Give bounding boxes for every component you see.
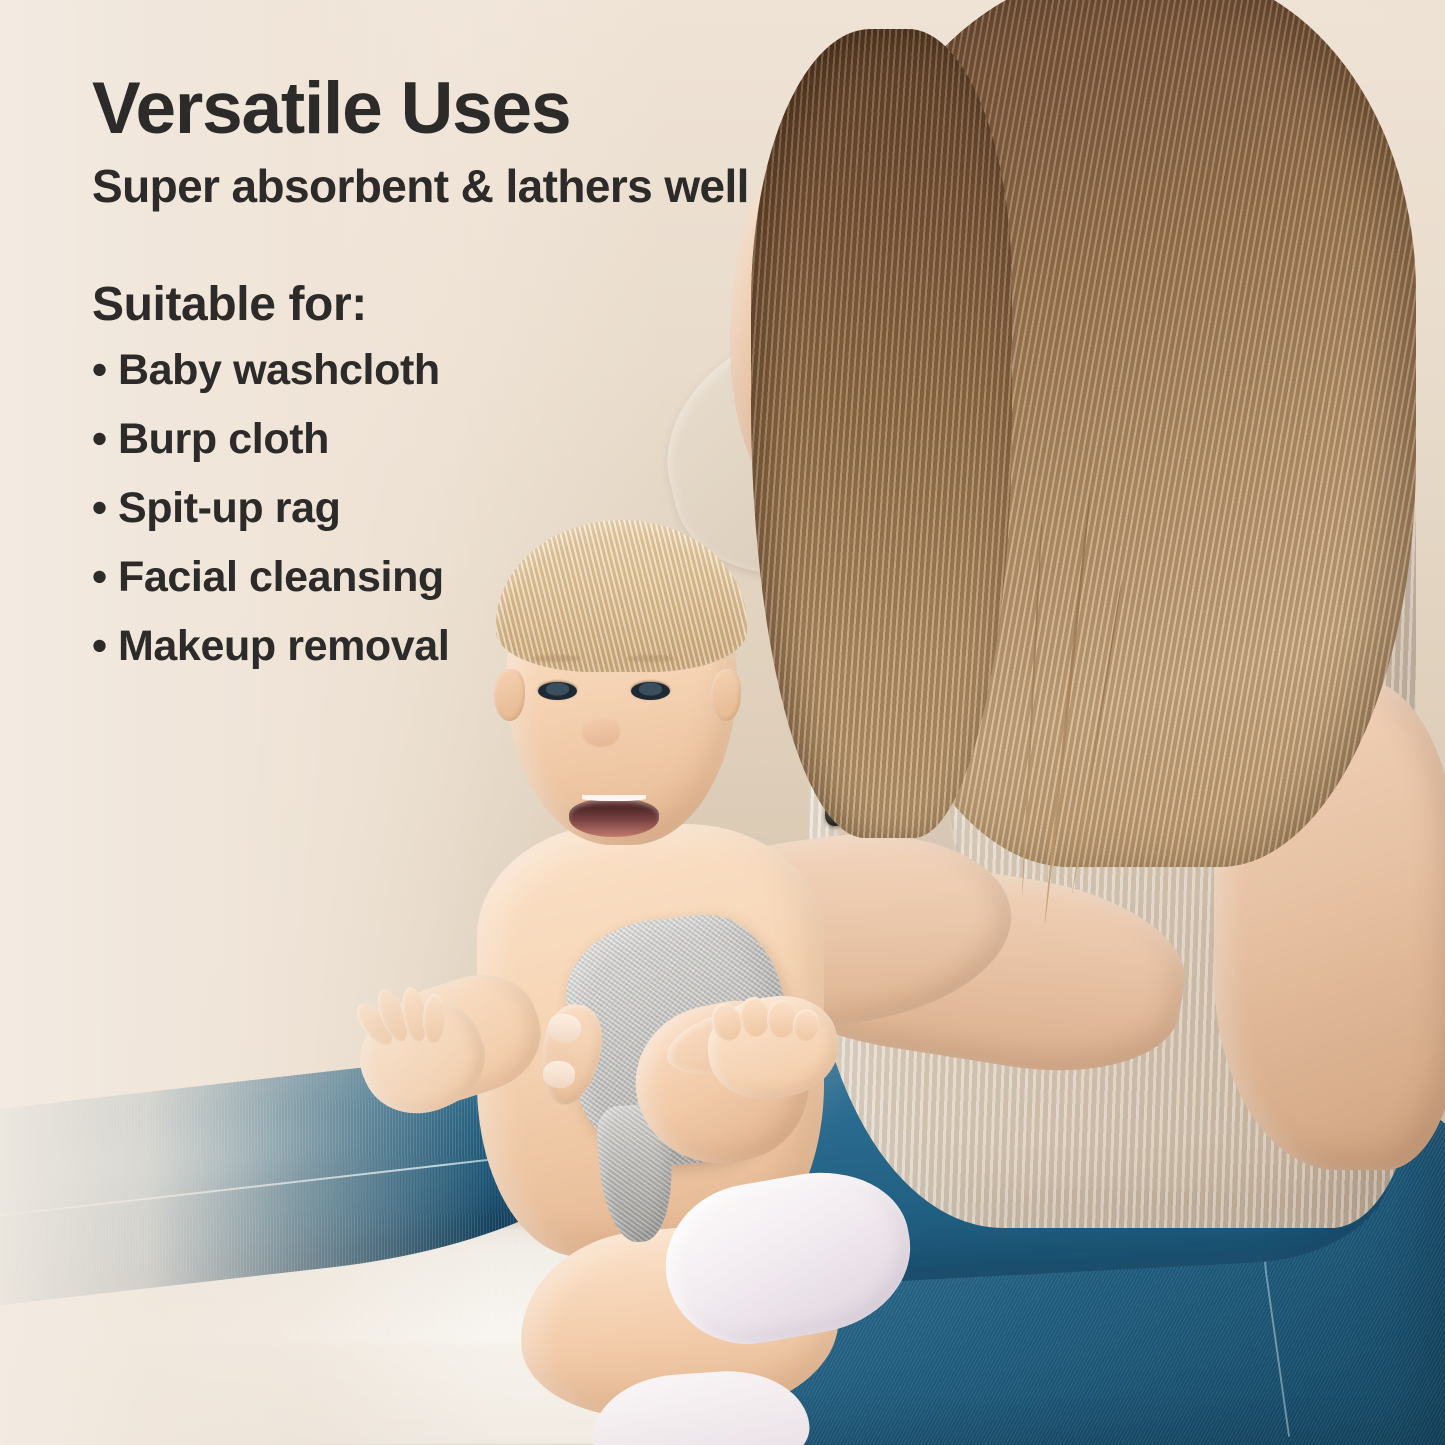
marketing-copy-block: Versatile Uses Super absorbent & lathers… [92, 72, 952, 694]
list-item: • Facial cleansing [92, 556, 952, 599]
bullet-icon: • [92, 487, 118, 530]
baby-smile [569, 799, 659, 837]
list-item-label: Makeup removal [118, 625, 449, 668]
list-item: • Spit-up rag [92, 487, 952, 530]
baby-nose [582, 718, 620, 747]
bullet-icon: • [92, 556, 118, 599]
list-item-label: Burp cloth [118, 418, 329, 461]
product-lifestyle-image: Versatile Uses Super absorbent & lathers… [0, 0, 1445, 1445]
list-item-label: Facial cleansing [118, 556, 444, 599]
list-item: • Baby washcloth [92, 349, 952, 392]
page-subtitle: Super absorbent & lathers well [92, 163, 952, 209]
suitable-for-heading: Suitable for: [92, 281, 952, 329]
bullet-icon: • [92, 349, 118, 392]
bullet-icon: • [92, 625, 118, 668]
list-item: • Burp cloth [92, 418, 952, 461]
list-item-label: Spit-up rag [118, 487, 341, 530]
bullet-icon: • [92, 418, 118, 461]
uses-list: • Baby washcloth • Burp cloth • Spit-up … [92, 349, 952, 668]
page-title: Versatile Uses [92, 72, 952, 145]
list-item: • Makeup removal [92, 625, 952, 668]
list-item-label: Baby washcloth [118, 349, 440, 392]
